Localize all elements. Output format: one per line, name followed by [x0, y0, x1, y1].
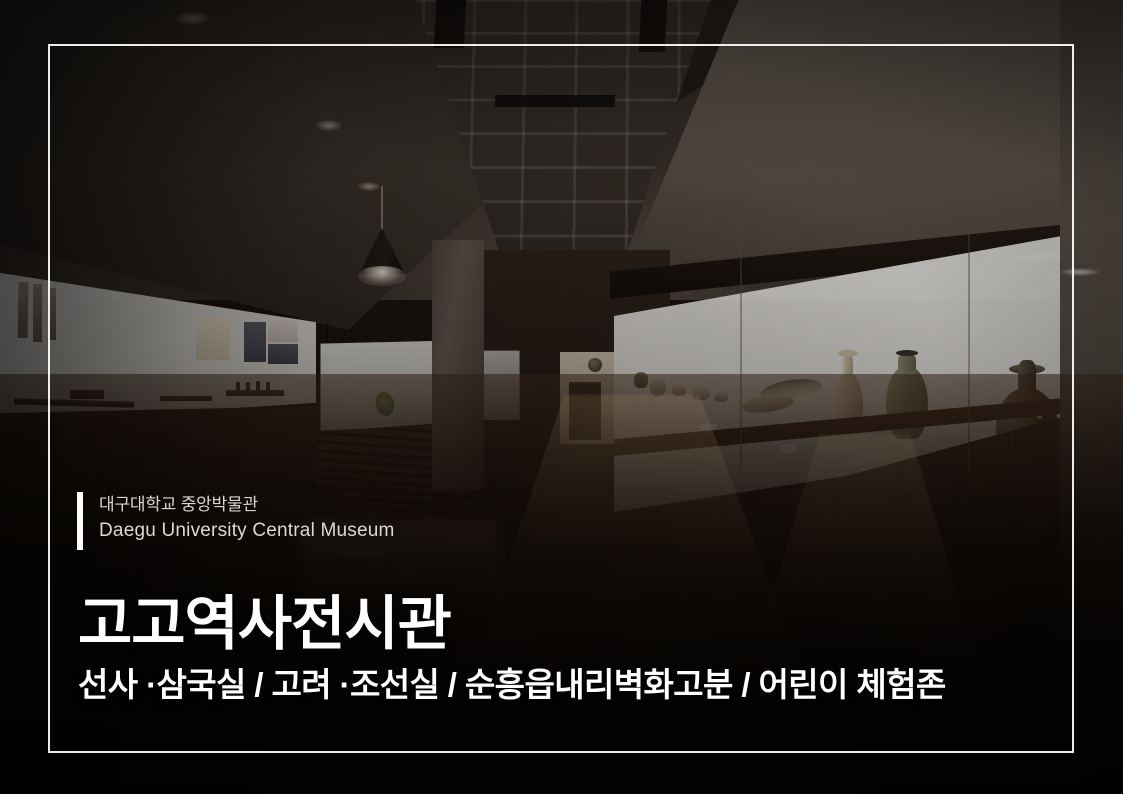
downlight-icon [358, 182, 380, 191]
banner-stage: 대구대학교 중앙박물관 Daegu University Central Mus… [0, 0, 1123, 794]
hanging-textile-panel [18, 282, 29, 338]
hanging-textile-panel [33, 284, 42, 342]
ceiling-hatch-left [434, 0, 467, 48]
pendant-lamp-glow [358, 266, 406, 286]
page-subtitle: 선사 ·삼국실 / 고려 ·조선실 / 순흥읍내리벽화고분 / 어린이 체험존 [78, 664, 946, 706]
hanging-document-panel [244, 322, 266, 362]
page-title: 고고역사전시관 [78, 590, 946, 658]
downlight-icon [176, 12, 210, 25]
accent-bar [77, 492, 83, 550]
hanging-textile-panel [48, 288, 56, 340]
ceiling-hatch-right [639, 0, 668, 52]
organization-name-korean: 대구대학교 중앙박물관 [99, 492, 395, 517]
downlight-icon [316, 120, 342, 131]
organization-caption-text: 대구대학교 중앙박물관 Daegu University Central Mus… [99, 492, 395, 544]
title-block: 고고역사전시관 선사 ·삼국실 / 고려 ·조선실 / 순흥읍내리벽화고분 / … [78, 590, 946, 706]
hanging-document-panel [268, 344, 298, 364]
panel-light-reflection [1060, 268, 1100, 276]
pendant-lamp-cord [381, 186, 383, 232]
hanging-document-panel [268, 320, 298, 342]
organization-name-english: Daegu University Central Museum [99, 517, 395, 544]
wall-mounted-disc-artifact [588, 358, 602, 372]
ceiling-vent [495, 95, 616, 107]
organization-caption: 대구대학교 중앙박물관 Daegu University Central Mus… [77, 492, 395, 550]
hanging-document-panel [196, 318, 230, 360]
